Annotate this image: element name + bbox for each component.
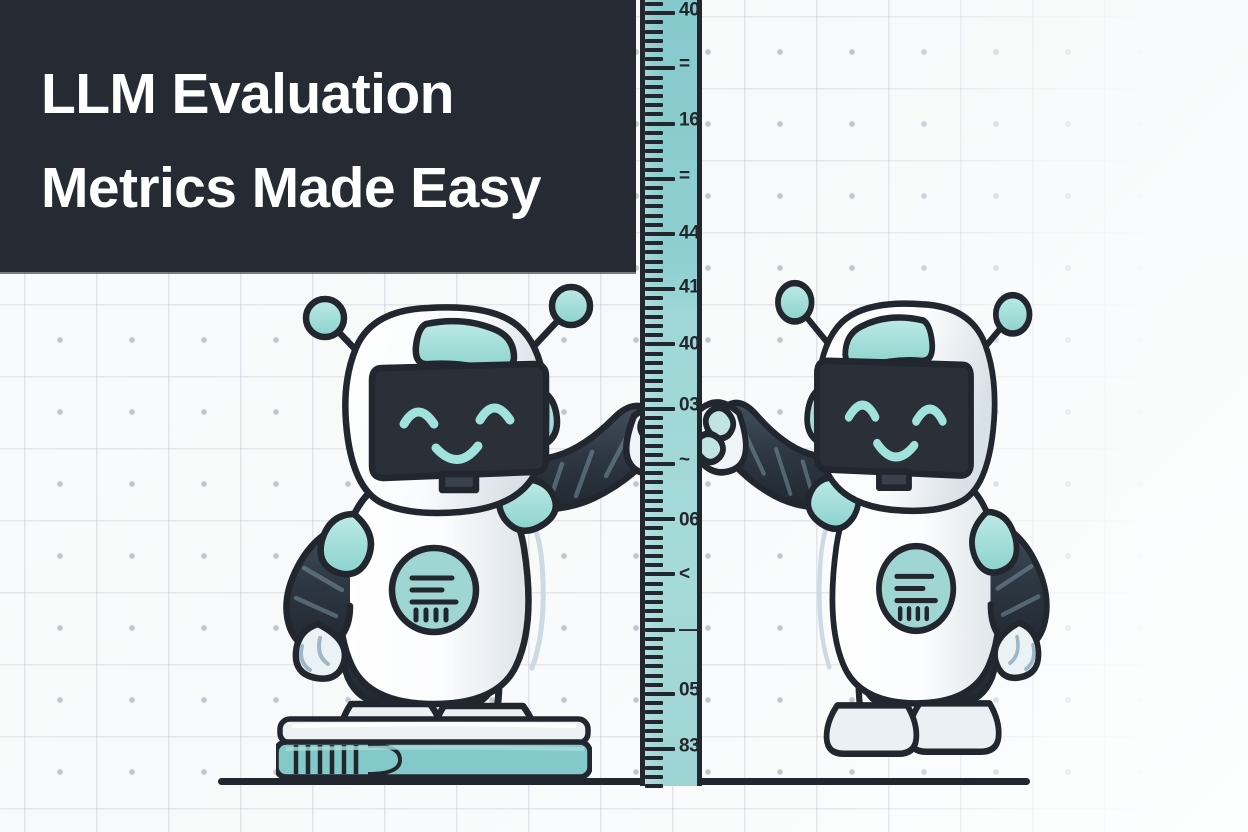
ruler-label: ~ [679, 451, 690, 470]
ruler-sheen [645, 0, 663, 786]
ruler-tick [645, 646, 663, 650]
book-stack [276, 716, 592, 782]
robot-left-graphic [258, 272, 678, 784]
ruler-tick [645, 747, 675, 751]
ruler-tick [645, 48, 663, 52]
ruler-tick [645, 39, 663, 43]
ruler-label: 44 [679, 224, 700, 243]
ruler-tick [645, 554, 663, 558]
ruler-tick [645, 756, 663, 760]
ruler-tick [645, 416, 663, 420]
ruler-tick [645, 425, 663, 429]
ruler-tick [645, 296, 663, 300]
ruler-tick [645, 692, 675, 696]
ruler-tick [645, 195, 663, 199]
ruler-tick [645, 57, 663, 61]
ruler-tick [645, 591, 663, 595]
ruler-tick [645, 250, 663, 254]
ruler-label: < [679, 565, 690, 584]
ruler-tick [645, 241, 663, 245]
ruler-tick [645, 131, 663, 135]
ruler-tick [645, 407, 675, 411]
ruler-label: 06 [679, 511, 700, 530]
ruler-tick [645, 398, 663, 402]
ruler-tick [645, 517, 675, 521]
ruler-tick [645, 674, 663, 678]
ruler-tick [645, 223, 663, 227]
ruler-tick [645, 480, 663, 484]
ruler-tick [645, 388, 663, 392]
ruler-tick [645, 729, 663, 733]
ruler-tick [645, 379, 663, 383]
ruler-tick [645, 683, 663, 687]
ruler-tick [645, 361, 663, 365]
book-stack-graphic [276, 716, 592, 782]
robot-right-graphic [700, 268, 1072, 784]
title-panel: LLM Evaluation Metrics Made Easy [0, 0, 636, 272]
ruler-tick [645, 260, 663, 264]
illustration-canvas: 40=16=44414003~06<—0583 LLM Evaluation M… [0, 0, 1248, 832]
ruler-label: 16 [679, 111, 700, 130]
ruler-tick [645, 637, 663, 641]
ruler-tick [645, 232, 675, 236]
robot-right [700, 268, 1072, 784]
ruler-tick [645, 582, 663, 586]
ruler-tick [645, 149, 663, 153]
ruler-tick [645, 76, 663, 80]
ruler-label: 03 [679, 396, 700, 415]
ruler-tick [645, 2, 663, 6]
ruler-tick [645, 30, 663, 34]
ruler-tick [645, 333, 663, 337]
head [345, 307, 557, 513]
ruler: 40=16=44414003~06<—0583 [636, 0, 708, 786]
chest-badge [879, 546, 953, 631]
ruler-tick [645, 315, 663, 319]
ruler-tick [645, 370, 663, 374]
ruler-tick [645, 112, 663, 116]
ruler-tick [645, 85, 663, 89]
ruler-label: 41 [679, 278, 700, 297]
ruler-tick [645, 342, 675, 346]
ruler-tick [645, 600, 663, 604]
ruler-tick [645, 214, 663, 218]
ruler-tick [645, 545, 663, 549]
ruler-tick [645, 508, 663, 512]
ruler-tick [645, 352, 663, 356]
ruler-label: 40 [679, 335, 700, 354]
ruler-tick [645, 158, 663, 162]
ruler-tick [645, 204, 663, 208]
ruler-tick [645, 775, 663, 779]
ruler-tick [645, 618, 663, 622]
ruler-tick [645, 186, 663, 190]
page-title-line-1: LLM Evaluation [41, 66, 454, 123]
ruler-tick [645, 536, 663, 540]
ruler-tick [645, 766, 663, 770]
ruler-tick [645, 453, 663, 457]
chest-badge [392, 548, 476, 632]
ruler-tick [645, 269, 663, 273]
ruler-tick [645, 66, 675, 70]
ruler-tick [645, 609, 663, 613]
robot-left [258, 272, 678, 784]
ruler-tick [645, 324, 663, 328]
ruler-tick [645, 140, 663, 144]
ruler-tick [645, 572, 675, 576]
ruler-tick [645, 20, 663, 24]
ruler-label: 83 [679, 737, 700, 756]
ruler-tick [645, 444, 663, 448]
ruler-tick [645, 784, 663, 788]
ruler-tick [645, 462, 675, 466]
ruler-tick [645, 526, 663, 530]
ruler-label: 40 [679, 1, 700, 20]
ruler-tick [645, 168, 663, 172]
ruler-tick [645, 471, 663, 475]
ruler-tick [645, 306, 663, 310]
ruler-tick [645, 177, 675, 181]
ruler-tick [645, 701, 663, 705]
ruler-tick [645, 738, 663, 742]
ruler-tick [645, 499, 663, 503]
ruler-tick [645, 434, 663, 438]
ruler-label: = [679, 55, 690, 74]
ruler-tick [645, 628, 675, 632]
ruler-tick [645, 664, 663, 668]
ruler-label: = [679, 167, 690, 186]
page-title-line-2: Metrics Made Easy [41, 160, 541, 217]
ruler-tick [645, 710, 663, 714]
ruler-tick [645, 11, 675, 15]
ruler-tick [645, 655, 663, 659]
ruler-tick [645, 122, 675, 126]
ruler-tick [645, 103, 663, 107]
ruler-tick [645, 490, 663, 494]
head [807, 304, 995, 511]
ruler-tick [645, 720, 663, 724]
ruler-tick [645, 563, 663, 567]
ground-line [218, 778, 1030, 785]
ruler-tick [645, 278, 663, 282]
ruler-label: 05 [679, 681, 700, 700]
ruler-tick [645, 94, 663, 98]
ruler-label: — [679, 621, 698, 640]
ruler-tick [645, 287, 675, 291]
